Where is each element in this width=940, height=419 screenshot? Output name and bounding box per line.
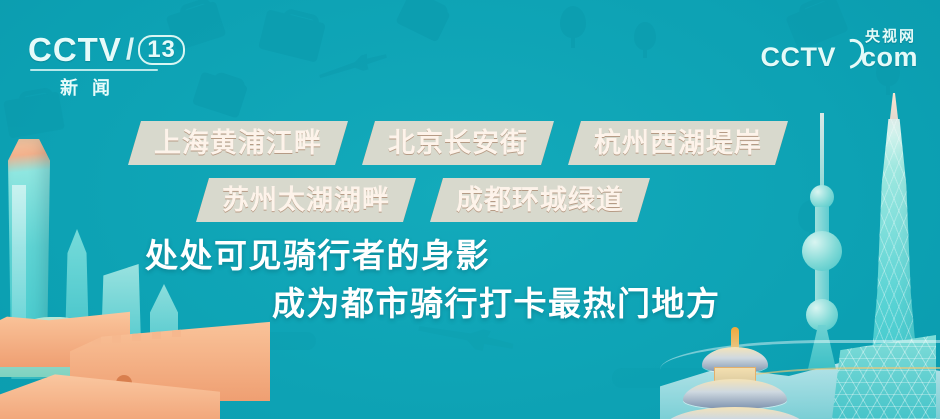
location-tag-label: 北京长安街 [388,121,528,165]
hot-air-balloon-icon [634,22,656,50]
hot-air-balloon-icon [560,6,586,38]
location-tag[interactable]: 苏州太湖湖畔 [196,178,416,222]
location-tag-group: 上海黄浦江畔 北京长安街 杭州西湖堤岸 苏州太湖湖畔 成都环城绿道 [0,116,940,227]
location-tag[interactable]: 成都环城绿道 [430,178,650,222]
cctv-com-chinese: 央视网 [865,25,916,46]
cctv-com-logo: CCTV com 央视网 [760,38,918,73]
suitcase-icon [395,0,450,42]
cctv-com-domain: com [861,42,918,73]
cctv-wordmark: CCTV / 13 [28,33,188,67]
logo-divider [30,69,158,71]
channel-number: 13 [138,35,185,65]
location-tag-label: 杭州西湖堤岸 [594,121,762,165]
suitcase-icon [192,71,248,118]
headline-line-1: 处处可见骑行者的身影 [0,232,940,280]
temple-of-heaven-icon [660,333,810,419]
tag-row-1: 上海黄浦江畔 北京长安街 杭州西湖堤岸 [0,116,940,170]
location-tag-label: 苏州太湖湖畔 [222,178,390,222]
suitcase-icon [258,9,326,62]
headline-block: 处处可见骑行者的身影 成为都市骑行打卡最热门地方 [0,232,940,328]
location-tag-label: 上海黄浦江畔 [154,121,322,165]
location-tag-label: 成都环城绿道 [456,178,624,222]
location-tag[interactable]: 北京长安街 [362,121,554,165]
airplane-icon [317,49,389,84]
channel-name-chinese: 新闻 [28,74,156,100]
logo-slash-icon: / [126,33,135,67]
cctv-wordmark-text: CCTV [28,33,122,67]
cctv13-channel-logo: CCTV / 13 新闻 [28,33,188,95]
location-tag[interactable]: 杭州西湖堤岸 [568,121,788,165]
broadcast-graphic: CCTV / 13 新闻 CCTV com 央视网 上海黄浦江畔 北京长安街 杭… [0,0,940,419]
cctv-com-wordmark: CCTV [760,42,836,73]
tag-row-2: 苏州太湖湖畔 成都环城绿道 [0,173,940,227]
headline-line-2: 成为都市骑行打卡最热门地方 [0,280,940,328]
location-tag[interactable]: 上海黄浦江畔 [128,121,348,165]
